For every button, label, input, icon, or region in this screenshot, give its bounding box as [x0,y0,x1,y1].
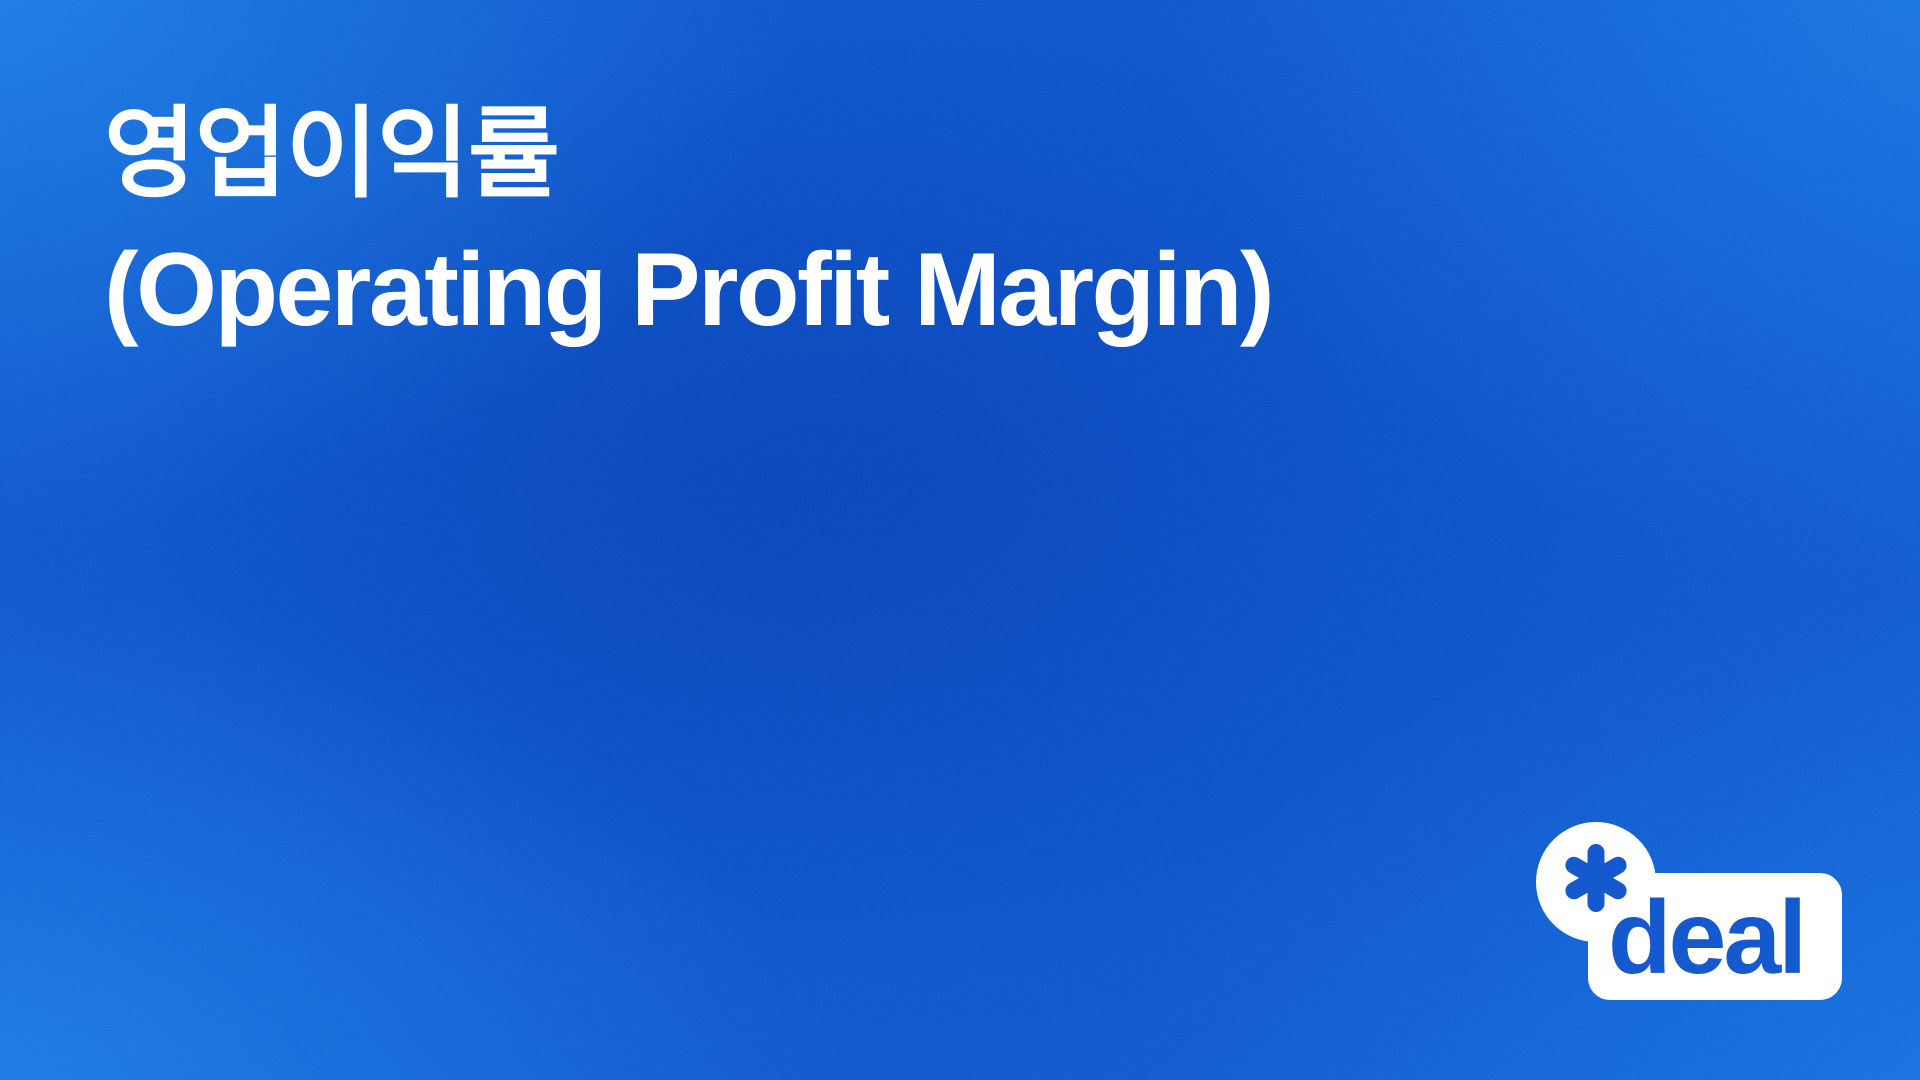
title-line-english: (Operating Profit Margin) [104,222,1604,358]
title-line-korean: 영업이익률 [104,86,1604,222]
deal-logo[interactable]: deal [1530,815,1850,1010]
page-title: 영업이익률 (Operating Profit Margin) [104,86,1604,358]
svg-text:deal: deal [1608,880,1804,996]
logo-wordmark: deal [1608,880,1804,996]
slide-card: 영업이익률 (Operating Profit Margin) deal [0,0,1920,1080]
